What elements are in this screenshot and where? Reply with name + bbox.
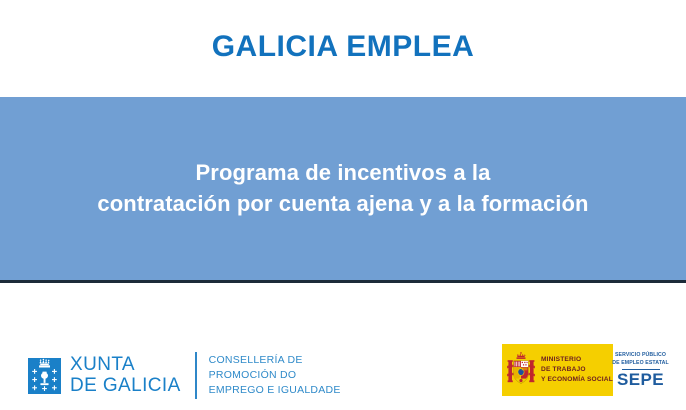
ministerio-line-1: MINISTERIO	[541, 355, 613, 365]
conselleria-line-2: PROMOCIÓN DO	[209, 368, 341, 383]
sepe-descriptor-line-1: SERVICIO PÚBLICO	[612, 352, 668, 360]
program-banner: Programa de incentivos a la contratación…	[0, 97, 686, 283]
title-area: GALICIA EMPLEA	[0, 0, 686, 97]
page-title: GALICIA EMPLEA	[212, 32, 475, 66]
sepe-logo: SERVICIO PÚBLICO DE EMPLEO ESTATAL SEPE	[613, 344, 668, 396]
banner-subtitle-line-1: Programa de incentivos a la	[97, 158, 588, 188]
logo-divider	[195, 352, 197, 399]
banner-subtitle: Programa de incentivos a la contratación…	[87, 158, 598, 219]
xunta-wordmark-line-1: XUNTA	[70, 355, 181, 375]
conselleria-label: CONSELLERÍA DE PROMOCIÓN DO EMPREGO E IG…	[209, 353, 341, 398]
sepe-descriptor-line-2: DE EMPLEO ESTATAL	[612, 360, 668, 368]
ministerio-de-trabajo-logo: MINISTERIO DE TRABAJO Y ECONOMÍA SOCIAL	[502, 344, 613, 396]
xunta-de-galicia-logo: XUNTA DE GALICIA CONSELLERÍA DE PROMOCIÓ…	[28, 352, 341, 399]
conselleria-line-3: EMPREGO E IGUALDADE	[209, 383, 341, 398]
gobierno-de-espana-logo-group: MINISTERIO DE TRABAJO Y ECONOMÍA SOCIAL …	[502, 344, 668, 396]
xunta-wordmark: XUNTA DE GALICIA	[70, 355, 181, 395]
sepe-descriptor: SERVICIO PÚBLICO DE EMPLEO ESTATAL	[612, 352, 668, 367]
xunta-de-galicia-emblem	[28, 358, 61, 394]
spain-coat-of-arms-icon	[507, 352, 535, 388]
sepe-acronym: SEPE	[617, 371, 664, 388]
conselleria-line-1: CONSELLERÍA DE	[209, 353, 341, 368]
footer-logo-bar: XUNTA DE GALICIA CONSELLERÍA DE PROMOCIÓ…	[0, 286, 686, 410]
ministerio-line-3: Y ECONOMÍA SOCIAL	[541, 375, 613, 385]
ministerio-line-2: DE TRABAJO	[541, 365, 613, 375]
ministerio-wordmark: MINISTERIO DE TRABAJO Y ECONOMÍA SOCIAL	[541, 355, 613, 385]
banner-subtitle-line-2: contratación por cuenta ajena y a la for…	[97, 189, 588, 219]
xunta-wordmark-line-2: DE GALICIA	[70, 376, 181, 396]
